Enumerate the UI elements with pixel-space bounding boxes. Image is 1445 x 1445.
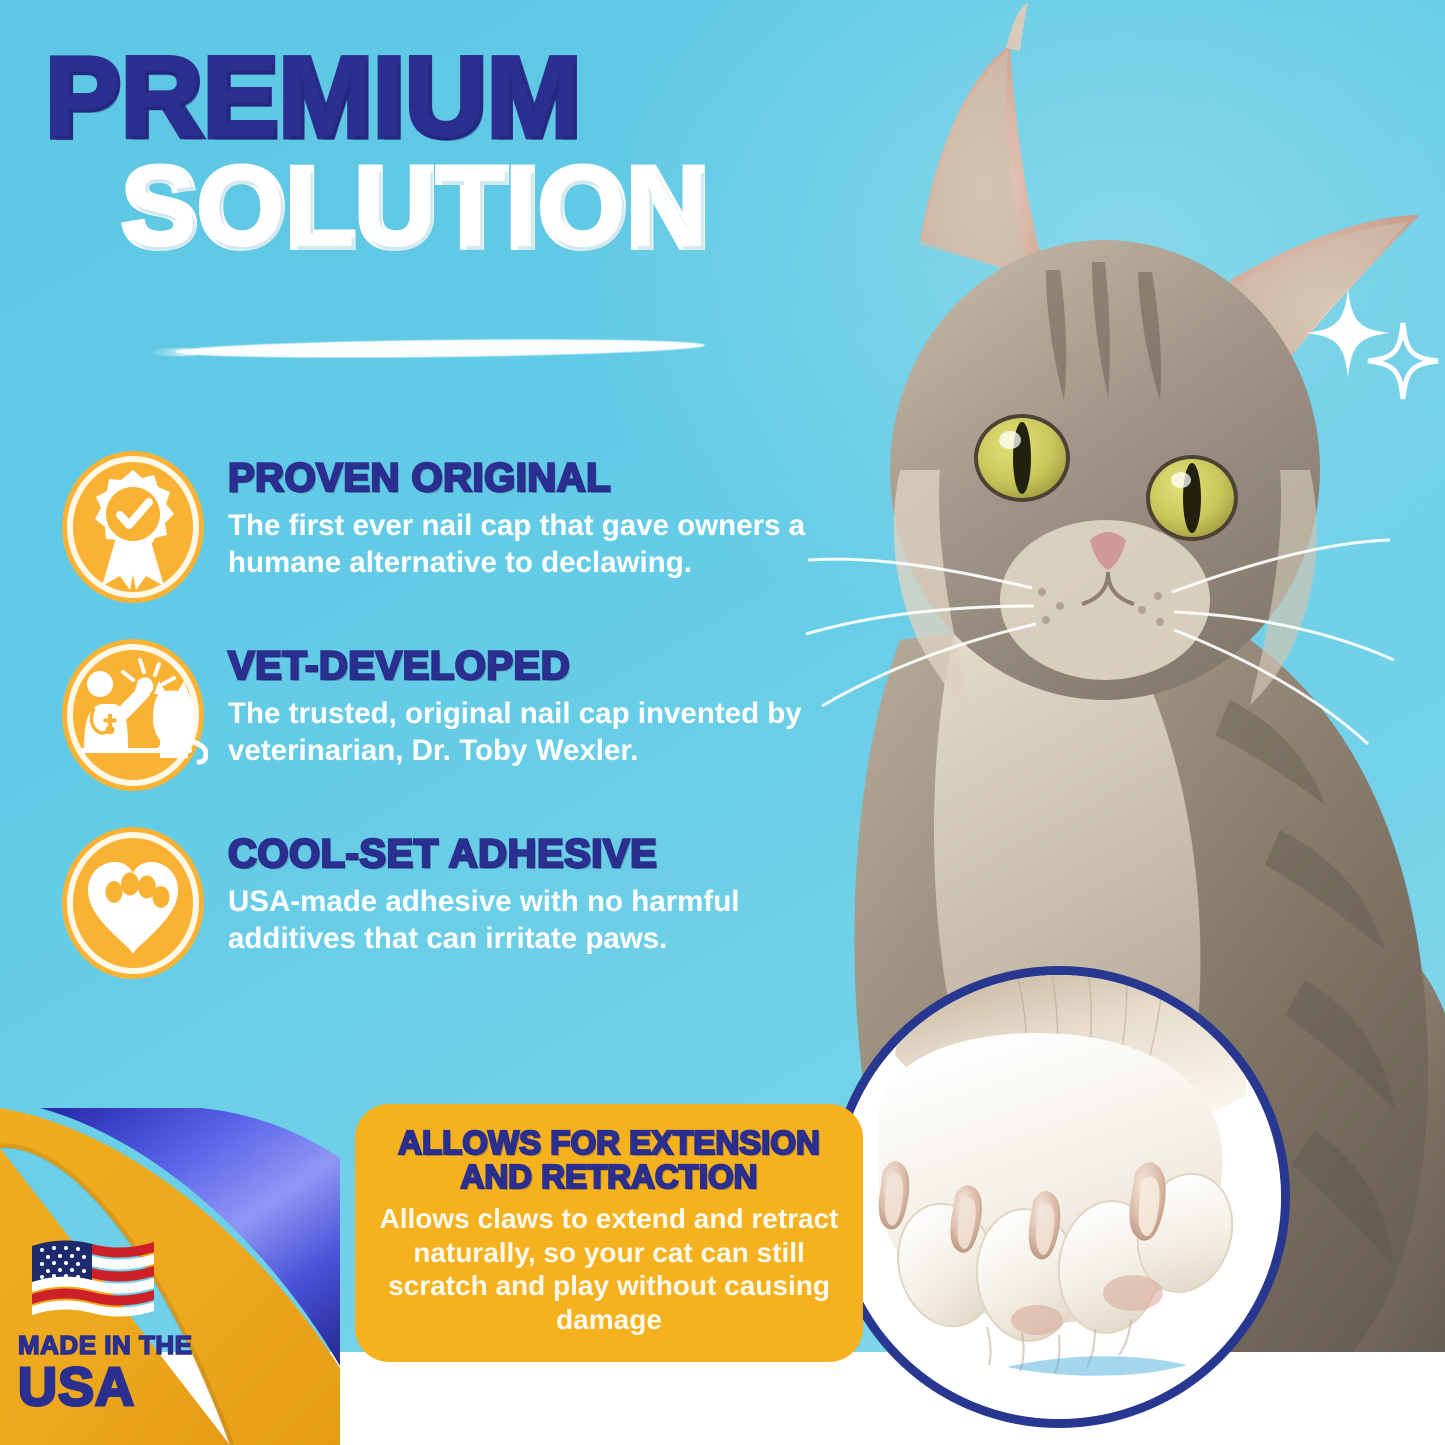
- feature-title: COOL-SET ADHESIVE: [228, 832, 788, 877]
- made-in-usa-line-2: USA: [18, 1362, 218, 1413]
- badge-container: [58, 824, 208, 982]
- heart-paw-print-icon: [58, 824, 208, 982]
- sparkle-decoration: [1300, 285, 1440, 405]
- feature-text: PROVEN ORIGINAL The first ever nail cap …: [228, 448, 808, 582]
- paw-closeup-inset: [828, 966, 1290, 1428]
- feature-body: The first ever nail cap that gave owners…: [228, 507, 808, 582]
- feature-item: VET-DEVELOPED The trusted, original nail…: [58, 636, 818, 794]
- feature-text: COOL-SET ADHESIVE USA-made adhesive with…: [228, 824, 788, 958]
- feature-title: VET-DEVELOPED: [228, 644, 818, 689]
- callout-title-line-1: ALLOWS FOR EXTENSION: [398, 1124, 820, 1161]
- headline-line-1: PREMIUM: [46, 52, 846, 144]
- feature-body: USA-made adhesive with no harmful additi…: [228, 883, 788, 958]
- page-title: PREMIUM SOLUTION: [46, 52, 846, 254]
- feature-text: VET-DEVELOPED The trusted, original nail…: [228, 636, 818, 770]
- usa-flag-icon: [30, 1236, 158, 1320]
- cat-paw-photo: [837, 975, 1281, 1419]
- made-in-usa-label: MADE IN THE USA: [18, 1333, 218, 1413]
- badge-container: [58, 636, 208, 794]
- award-ribbon-check-icon: [58, 448, 208, 606]
- veterinarian-high-five-cat-icon: [58, 636, 208, 794]
- badge-container: [58, 448, 208, 606]
- callout-title-line-2: AND RETRACTION: [461, 1158, 758, 1195]
- made-in-usa-line-1: MADE IN THE: [18, 1333, 218, 1358]
- feature-body: The trusted, original nail cap invented …: [228, 695, 818, 770]
- callout-box: ALLOWS FOR EXTENSION AND RETRACTION Allo…: [355, 1104, 863, 1362]
- feature-item: COOL-SET ADHESIVE USA-made adhesive with…: [58, 824, 818, 982]
- product-feature-poster: PREMIUM SOLUTION PROVEN ORIGINAL: [0, 0, 1445, 1445]
- feature-list: PROVEN ORIGINAL The first ever nail cap …: [58, 448, 818, 1012]
- callout-body: Allows claws to extend and retract natur…: [375, 1202, 843, 1336]
- feature-title: PROVEN ORIGINAL: [228, 456, 808, 501]
- feature-item: PROVEN ORIGINAL The first ever nail cap …: [58, 448, 818, 606]
- headline-line-2: SOLUTION: [46, 162, 786, 254]
- callout-title: ALLOWS FOR EXTENSION AND RETRACTION: [375, 1126, 843, 1194]
